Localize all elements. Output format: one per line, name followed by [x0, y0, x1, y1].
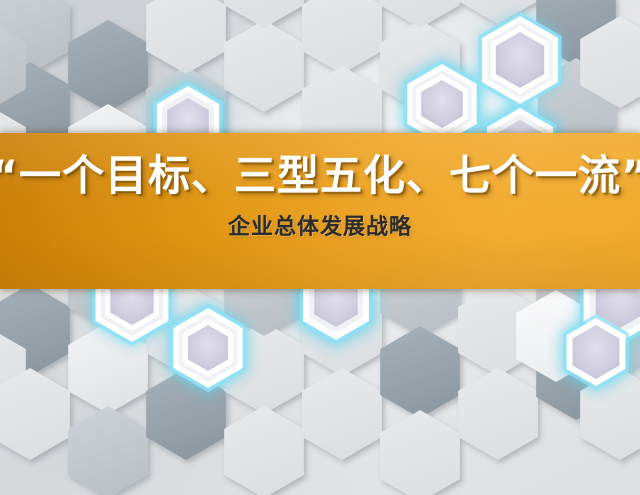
title-banner: “一个目标、三型五化、七个一流” 企业总体发展战略 — [0, 133, 640, 289]
banner-text-block: “一个目标、三型五化、七个一流” 企业总体发展战略 — [0, 133, 640, 289]
page-subtitle: 企业总体发展战略 — [228, 217, 412, 239]
slide-canvas: “一个目标、三型五化、七个一流” 企业总体发展战略 — [0, 0, 640, 495]
page-title: “一个目标、三型五化、七个一流” — [0, 155, 640, 197]
